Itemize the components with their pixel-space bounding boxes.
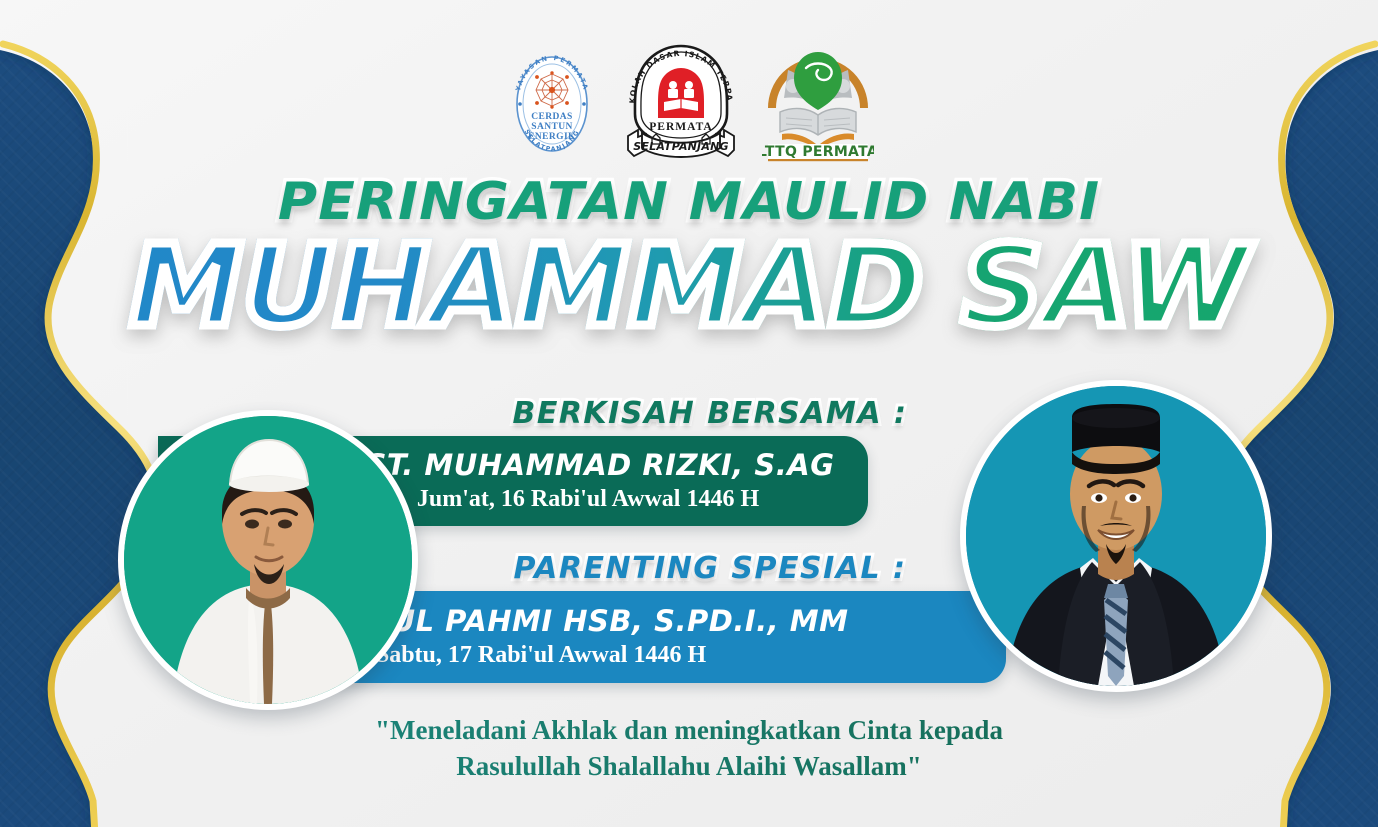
headline-block: PERINGATAN MAULID NABI MUHAMMAD SAW	[0, 176, 1378, 343]
quote-line-2: Rasulullah Shalallahu Alaihi Wasallam"	[0, 749, 1378, 785]
event-quote: "Meneladani Akhlak dan meningkatkan Cint…	[0, 713, 1378, 784]
session-label-berkisah: BERKISAH BERSAMA :	[360, 396, 1060, 431]
session-label-parenting: PARENTING SPESIAL :	[360, 551, 1060, 586]
sdit-permata-logo: SEKOLAH DASAR ISLAM TERPADU PERMATA	[622, 40, 740, 162]
lttq-permata-logo: LTTQ PERMATA	[762, 40, 874, 162]
maulid-poster: YAYASAN PERMATA SELATPANJANG	[0, 0, 1378, 827]
speaker-photo-amrul-pahmi	[960, 380, 1272, 692]
svg-text:CERDAS: CERDAS	[531, 112, 572, 122]
logo-row: YAYASAN PERMATA SELATPANJANG	[0, 34, 1378, 162]
svg-text:LTTQ PERMATA: LTTQ PERMATA	[762, 144, 874, 160]
svg-text:SELATPANJANG: SELATPANJANG	[633, 140, 728, 153]
speaker-photo-muhammad-rizki	[118, 410, 418, 710]
svg-text:PERMATA: PERMATA	[649, 121, 712, 133]
page-title: MUHAMMAD SAW	[0, 231, 1378, 343]
svg-text:SANTUN: SANTUN	[531, 122, 572, 132]
svg-text:ENERGIK: ENERGIK	[528, 132, 576, 142]
quote-line-1: "Meneladani Akhlak dan meningkatkan Cint…	[0, 713, 1378, 749]
speaker-date-2: Sabtu, 17 Rabi'ul Awwal 1446 H	[376, 643, 836, 667]
yayasan-permata-logo: YAYASAN PERMATA SELATPANJANG	[504, 46, 600, 162]
